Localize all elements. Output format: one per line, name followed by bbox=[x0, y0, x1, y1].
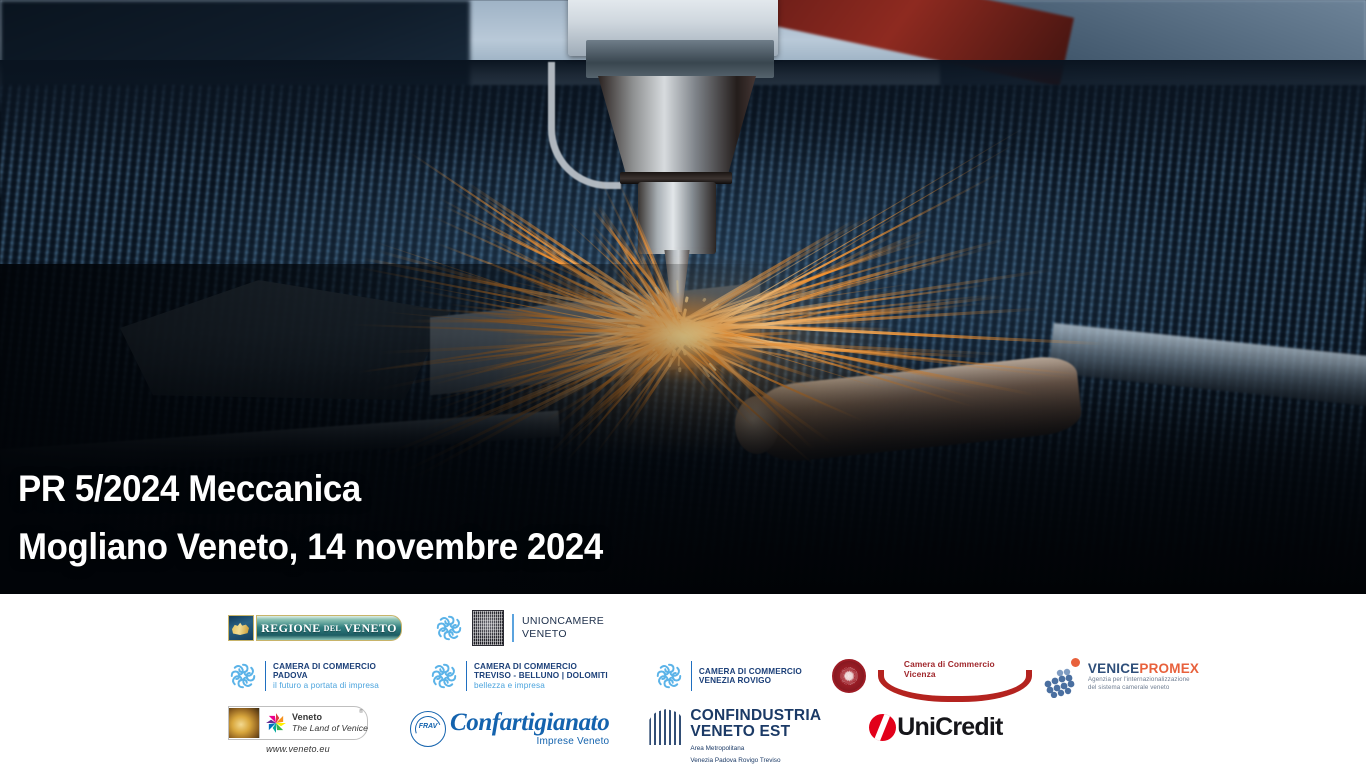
logo-unicredit: UniCredit bbox=[869, 714, 1002, 741]
logo-camera-di-commercio-vicenza: Camera di Commercio Vicenza bbox=[832, 656, 1022, 696]
cciaa-treviso-line-2: TREVISO - BELLUNO | DOLOMITI bbox=[474, 671, 608, 680]
confartigianato-wordmark: Confartigianato bbox=[450, 710, 609, 735]
cciaa-text-venezia: CAMERA DI COMMERCIO VENEZIA ROVIGO bbox=[699, 667, 802, 685]
unicredit-wordmark: UniCredit bbox=[897, 715, 1002, 740]
veneto-trademark-mark: ® bbox=[359, 709, 363, 715]
regione-banner: REGIONE DEL VENETO bbox=[256, 615, 402, 641]
cciaa-divider-padova bbox=[265, 661, 266, 691]
page-title-line-1: PR 5/2024 Meccanica bbox=[18, 460, 603, 518]
logo-veneto-the-land-of-venice: Veneto The Land of Venice ® www.veneto.e… bbox=[228, 706, 368, 754]
vicenza-mark: Camera di Commercio Vicenza bbox=[872, 656, 1022, 696]
unioncamere-swirl-icon bbox=[434, 613, 464, 643]
logo-camera-di-commercio-padova: CAMERA DI COMMERCIO PADOVA il futuro a p… bbox=[228, 661, 379, 691]
cciaa-padova-line-2: PADOVA bbox=[273, 671, 379, 680]
logo-confindustria-veneto-est: CONFINDUSTRIA VENETO EST Area Metropolit… bbox=[649, 708, 821, 766]
vicenza-text: Camera di Commercio Vicenza bbox=[904, 659, 995, 679]
veneto-text: Veneto The Land of Venice bbox=[292, 712, 368, 733]
unioncamere-engraving-icon bbox=[472, 610, 504, 646]
lion-of-saint-mark-icon bbox=[232, 622, 249, 635]
hero-title-block: PR 5/2024 Meccanica Mogliano Veneto, 14 … bbox=[18, 460, 640, 576]
logo-regione-del-veneto: REGIONE DEL VENETO bbox=[228, 615, 402, 641]
cciaa-text-treviso: CAMERA DI COMMERCIO TREVISO - BELLUNO | … bbox=[474, 662, 608, 690]
logo-unioncamere-veneto: UNIONCAMERE VENETO bbox=[434, 610, 604, 646]
venicepromex-text: VENICEPROMEX Agenzia per l'internazional… bbox=[1088, 661, 1199, 692]
veneto-line-2: The Land of Venice bbox=[292, 723, 368, 733]
page-title-line-2: Mogliano Veneto, 14 novembre 2024 bbox=[18, 518, 603, 576]
vicenza-line-2: Vicenza bbox=[904, 669, 995, 679]
logo-confartigianato-imprese-veneto: FRAV Confartigianato Imprese Veneto bbox=[410, 710, 609, 747]
confartigianato-subtitle: Imprese Veneto bbox=[450, 736, 609, 747]
cciaa-treviso-line-1: CAMERA DI COMMERCIO bbox=[474, 662, 608, 671]
confindustria-line-2: VENETO EST bbox=[690, 724, 821, 740]
cciaa-divider-venezia bbox=[691, 661, 692, 691]
unicredit-mark-icon bbox=[869, 714, 896, 741]
cciaa-venezia-line-2: VENEZIA ROVIGO bbox=[699, 676, 802, 685]
confindustria-line-1: CONFINDUSTRIA bbox=[690, 708, 821, 724]
logo-camera-di-commercio-venezia-rovigo: CAMERA DI COMMERCIO VENEZIA ROVIGO bbox=[654, 661, 802, 691]
confartigianato-mark-text: FRAV bbox=[411, 723, 445, 730]
confindustria-sub-1: Area Metropolitana bbox=[690, 745, 821, 754]
cciaa-padova-line-1: CAMERA DI COMMERCIO bbox=[273, 662, 379, 671]
cciaa-padova-tagline: il futuro a portata di impresa bbox=[273, 681, 379, 690]
regione-label-del: DEL bbox=[324, 624, 341, 633]
veneto-logo-box: Veneto The Land of Venice ® bbox=[228, 706, 368, 740]
logo-camera-di-commercio-treviso-belluno-dolomiti: CAMERA DI COMMERCIO TREVISO - BELLUNO | … bbox=[429, 661, 608, 691]
unioncamere-divider bbox=[512, 614, 514, 642]
logo-row-3: Veneto The Land of Venice ® www.veneto.e… bbox=[228, 706, 1003, 766]
venicepromex-word-venice: VENICE bbox=[1088, 661, 1139, 676]
venicepromex-wordmark: VENICEPROMEX bbox=[1088, 661, 1199, 676]
venicepromex-sub-2: del sistema camerale veneto bbox=[1088, 684, 1199, 692]
veneto-website-url: www.veneto.eu bbox=[228, 744, 368, 754]
cciaa-swirl-icon-treviso bbox=[429, 661, 459, 691]
confindustria-text: CONFINDUSTRIA VENETO EST Area Metropolit… bbox=[690, 708, 821, 766]
sponsor-logo-footer: REGIONE DEL VENETO bbox=[0, 594, 1366, 768]
cciaa-swirl-icon-venezia bbox=[654, 661, 684, 691]
veneto-line-1: Veneto bbox=[292, 712, 368, 723]
logo-row-1: REGIONE DEL VENETO bbox=[228, 610, 604, 646]
cciaa-swirl-icon-padova bbox=[228, 661, 258, 691]
confartigianato-text: Confartigianato Imprese Veneto bbox=[450, 710, 609, 747]
vicenza-seal-icon bbox=[832, 659, 866, 693]
regione-label-veneto: VENETO bbox=[344, 621, 397, 636]
veneto-lion-photo-icon bbox=[229, 708, 260, 738]
logo-venice-promex: VENICEPROMEX Agenzia per l'internazional… bbox=[1040, 658, 1199, 694]
regione-label-regione: REGIONE bbox=[261, 621, 320, 636]
cciaa-divider-treviso bbox=[466, 661, 467, 691]
confindustria-colonnade-icon bbox=[649, 709, 683, 745]
hero-banner-image: PR 5/2024 Meccanica Mogliano Veneto, 14 … bbox=[0, 0, 1366, 594]
unioncamere-line-1: UNIONCAMERE bbox=[522, 615, 604, 628]
venicepromex-word-promex: PROMEX bbox=[1139, 661, 1199, 676]
confartigianato-circle-icon: FRAV bbox=[410, 711, 446, 747]
confindustria-sub-2: Venezia Padova Rovigo Treviso bbox=[690, 757, 821, 766]
veneto-pinwheel-icon bbox=[265, 712, 287, 734]
venicepromex-sub-1: Agenzia per l'internazionalizzazione bbox=[1088, 676, 1199, 684]
unioncamere-text: UNIONCAMERE VENETO bbox=[522, 615, 604, 640]
cciaa-venezia-line-1: CAMERA DI COMMERCIO bbox=[699, 667, 802, 676]
venicepromex-sphere-icon bbox=[1040, 658, 1084, 694]
vicenza-line-1: Camera di Commercio bbox=[904, 659, 995, 669]
cciaa-treviso-tagline: bellezza e impresa bbox=[474, 681, 608, 690]
presentation-slide: PR 5/2024 Meccanica Mogliano Veneto, 14 … bbox=[0, 0, 1366, 768]
logo-row-2: CAMERA DI COMMERCIO PADOVA il futuro a p… bbox=[228, 656, 1199, 696]
regione-lion-emblem-icon bbox=[228, 615, 254, 641]
cciaa-text-padova: CAMERA DI COMMERCIO PADOVA il futuro a p… bbox=[273, 662, 379, 690]
unioncamere-line-2: VENETO bbox=[522, 628, 604, 641]
